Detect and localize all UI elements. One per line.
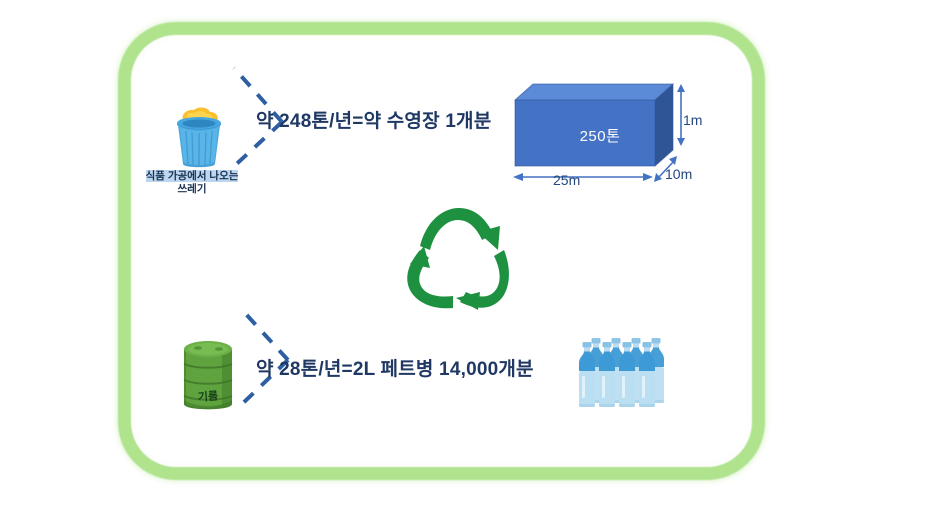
recycle-arrows-icon bbox=[396, 202, 522, 314]
oil-drum-icon: 기름 bbox=[178, 338, 238, 416]
statement-top: 약 248톤/년=약 수영장 1개분 bbox=[256, 106, 491, 133]
box-value-label: 250톤 bbox=[535, 125, 665, 146]
volume-box-figure: 250톤 1m 10m 25m bbox=[505, 82, 720, 197]
trash-bin-icon bbox=[168, 104, 230, 170]
water-bottles-icon bbox=[578, 336, 670, 408]
dimension-height-label: 1m bbox=[683, 112, 702, 128]
dimension-width-label: 25m bbox=[553, 172, 580, 188]
caption-line-2: 쓰레기 bbox=[178, 183, 207, 195]
dimension-depth-label: 10m bbox=[665, 166, 692, 182]
statement-bottom: 약 28톤/년=2L 페트병 14,000개분 bbox=[256, 354, 534, 381]
caption-line-1: 식품 가공에서 나오는 bbox=[146, 170, 239, 182]
